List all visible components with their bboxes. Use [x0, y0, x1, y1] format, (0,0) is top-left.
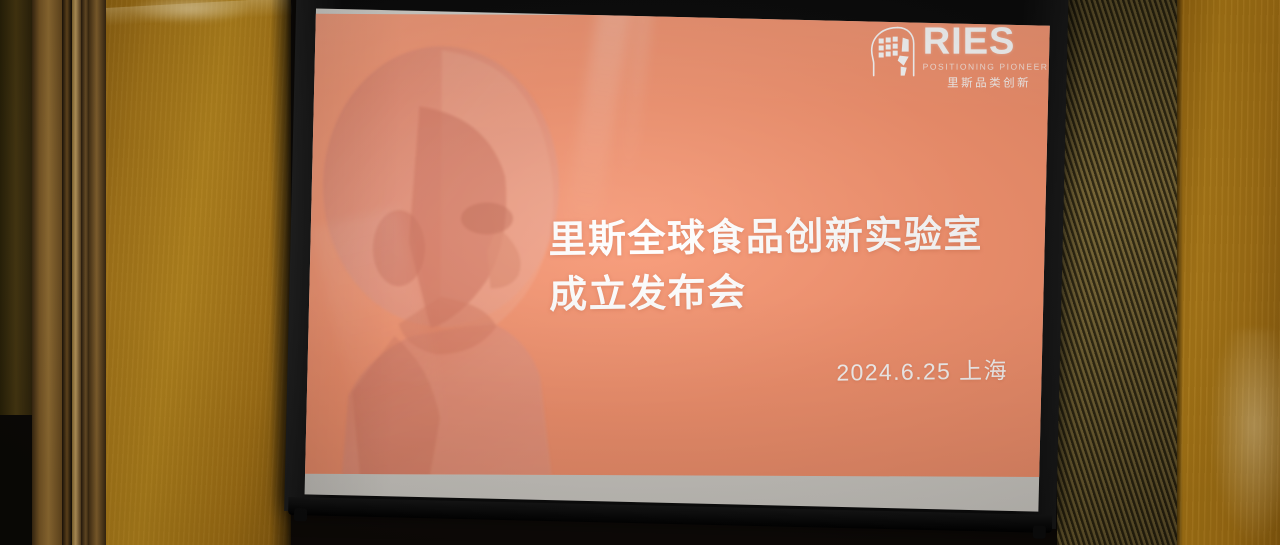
left-wall-highlight [130, 0, 250, 24]
ries-tagline: POSITIONING PIONEERS [923, 62, 1050, 72]
ries-wordmark: RIES [923, 25, 1050, 60]
light-streak [618, 14, 654, 186]
projected-slide: RIES POSITIONING PIONEERS 里斯品类创新 里斯全球食品创… [305, 14, 1050, 477]
right-wall-panel-seam [1177, 0, 1183, 545]
left-wood-wall-panel [106, 0, 291, 545]
ribbed-panel-shading [1057, 0, 1177, 545]
slide-title-line-2: 成立发布会 [549, 263, 984, 324]
ries-logo-lockup: RIES POSITIONING PIONEERS 里斯品类创新 [868, 25, 1050, 91]
wood-trim-strip-4 [81, 0, 89, 545]
ries-chinese-name: 里斯品类创新 [947, 75, 1031, 91]
wood-trim-strip-5 [89, 0, 106, 545]
right-wall-highlight [1210, 330, 1280, 545]
slide-date-location: 2024.6.25 上海 [836, 351, 1008, 387]
conference-room-photo: RIES POSITIONING PIONEERS 里斯品类创新 里斯全球食品创… [0, 0, 1280, 545]
far-left-dark-recess [0, 415, 32, 545]
screen-frame-foot-left [294, 508, 307, 521]
wood-trim-strip-2 [62, 0, 72, 545]
slide-title: 里斯全球食品创新实验室 成立发布会 [548, 208, 984, 325]
slide-title-line-1: 里斯全球食品创新实验室 [548, 208, 983, 269]
ries-head-grid-icon [868, 26, 916, 78]
wood-trim-strip-3 [72, 0, 81, 545]
screen-frame-foot-right [1033, 525, 1046, 538]
wood-trim-strip-1 [32, 0, 62, 545]
ries-logo-text: RIES POSITIONING PIONEERS 里斯品类创新 [923, 25, 1050, 91]
projection-screen-surface: RIES POSITIONING PIONEERS 里斯品类创新 里斯全球食品创… [305, 8, 1050, 511]
projection-screen-frame: RIES POSITIONING PIONEERS 里斯品类创新 里斯全球食品创… [284, 0, 1069, 529]
